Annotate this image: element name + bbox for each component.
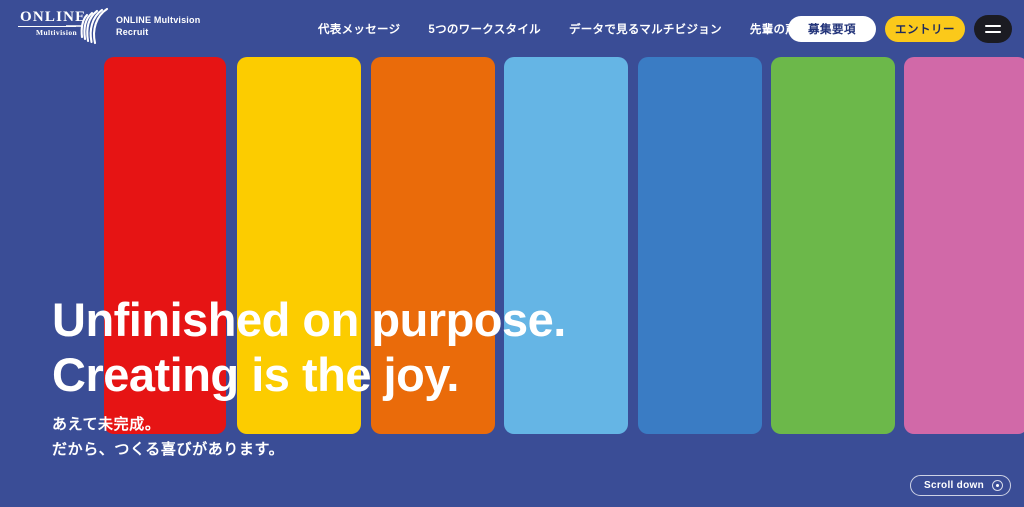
menu-line-bottom (985, 31, 1001, 33)
hero-subheading: あえて未完成。 だから、つくる喜びがあります。 (52, 412, 284, 462)
logo-text: ONLINE Multvision Recruit (116, 14, 200, 38)
page-root: ONLINE Multivision ONLINE Multvision Rec… (0, 0, 1024, 507)
bar-green (771, 57, 895, 434)
menu-line-top (985, 25, 1001, 27)
hero-sub-line-1: あえて未完成。 (52, 412, 284, 437)
fan-swoosh-icon (66, 7, 110, 45)
bar-lightblue (504, 57, 628, 434)
hamburger-menu-icon[interactable] (974, 15, 1012, 43)
primary-nav: 代表メッセージ5つのワークスタイルデータで見るマルチビジョン先輩の声 (318, 0, 797, 57)
entry-button[interactable]: エントリー (885, 16, 965, 42)
hero-sub-line-2: だから、つくる喜びがあります。 (52, 437, 284, 462)
bar-orange (371, 57, 495, 434)
scroll-indicator-dot-icon (992, 480, 1003, 491)
nav-item-workstyle[interactable]: 5つのワークスタイル (428, 21, 541, 37)
color-bar-group (0, 57, 1024, 434)
scroll-down-label: Scroll down (924, 480, 984, 491)
scroll-down-button[interactable]: Scroll down (910, 475, 1011, 496)
bar-blue (638, 57, 762, 434)
header-actions: 募集要項 エントリー (788, 0, 1012, 57)
bar-red (104, 57, 226, 434)
bar-pink (904, 57, 1024, 434)
nav-item-message[interactable]: 代表メッセージ (318, 21, 400, 37)
site-logo[interactable]: ONLINE Multivision ONLINE Multvision Rec… (14, 6, 200, 46)
bar-yellow (237, 57, 361, 434)
recruit-requirements-button[interactable]: 募集要項 (788, 16, 876, 42)
site-header: ONLINE Multivision ONLINE Multvision Rec… (0, 0, 1024, 57)
logo-mark: ONLINE Multivision (14, 7, 106, 45)
nav-item-data[interactable]: データで見るマルチビジョン (569, 21, 722, 37)
